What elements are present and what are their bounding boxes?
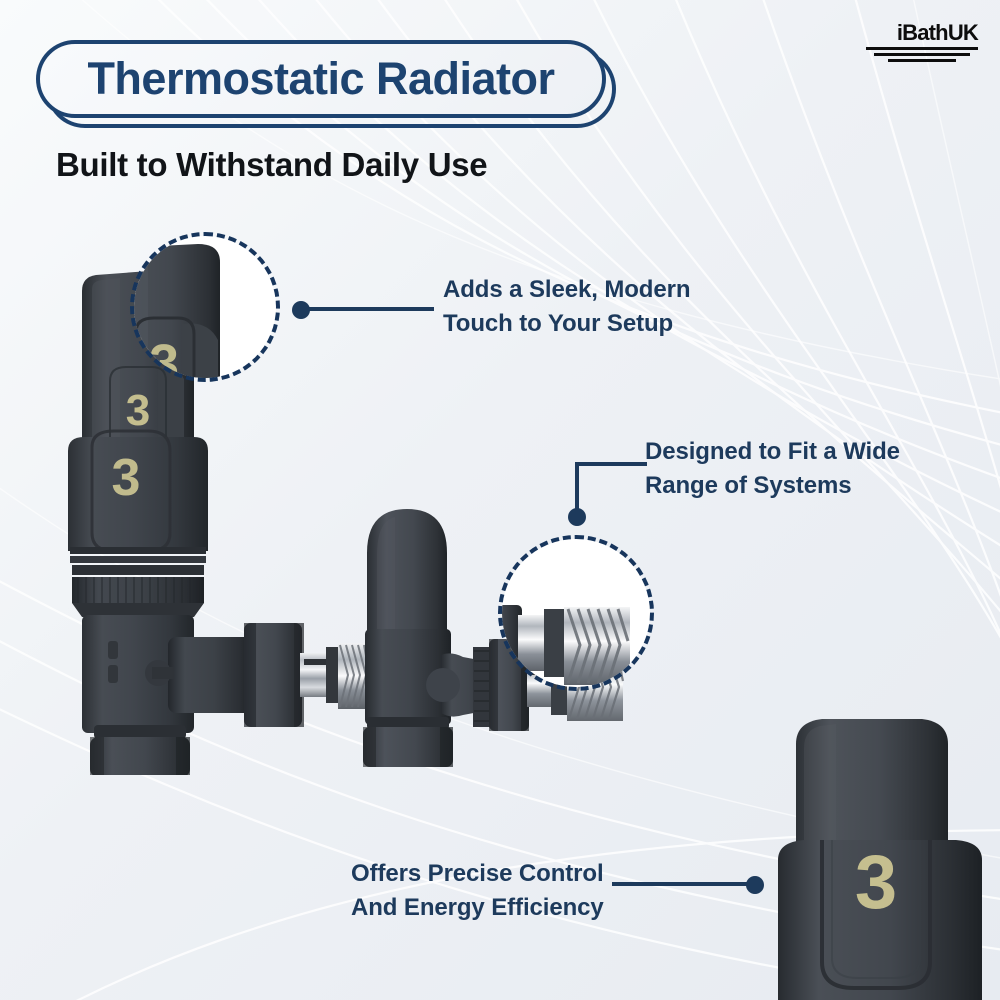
svg-text:3: 3: [126, 386, 150, 435]
title-badge: Thermostatic Radiator: [36, 40, 616, 128]
callout-1-line-1: Adds a Sleek, Modern: [443, 273, 733, 307]
magnifier-ring-2: [498, 535, 654, 691]
callout-2-line-horizontal: [575, 462, 647, 466]
brand-logo-text: iBathUK: [858, 22, 978, 44]
svg-text:3: 3: [855, 840, 897, 925]
callout-1-line: [306, 307, 434, 311]
product-image-thermostatic-head-closeup: 3: [760, 700, 1000, 1000]
callout-2-line-vertical: [575, 462, 579, 512]
callout-2-line-2: Range of Systems: [645, 469, 955, 503]
callout-2-dot: [568, 508, 586, 526]
infographic-canvas: Thermostatic Radiator Built to Withstand…: [0, 0, 1000, 1000]
page-subtitle: Built to Withstand Daily Use: [56, 146, 487, 184]
callout-2-connector: [568, 460, 648, 532]
callout-1-connector: [292, 300, 438, 320]
brand-logo: iBathUK: [858, 22, 978, 62]
page-title: Thermostatic Radiator: [87, 53, 554, 105]
callout-3-line-1: Offers Precise Control: [351, 857, 651, 891]
logo-rule-3: [888, 59, 956, 62]
callout-3-text: Offers Precise Control And Energy Effici…: [351, 857, 651, 925]
callout-1-dot: [292, 301, 310, 319]
callout-2-text: Designed to Fit a Wide Range of Systems: [645, 435, 955, 503]
callout-1-line-2: Touch to Your Setup: [443, 307, 733, 341]
callout-2-line-1: Designed to Fit a Wide: [645, 435, 955, 469]
callout-1-text: Adds a Sleek, Modern Touch to Your Setup: [443, 273, 733, 341]
magnifier-ring-1: [130, 232, 280, 382]
title-badge-frame: Thermostatic Radiator: [36, 40, 606, 118]
svg-text:3: 3: [112, 449, 141, 507]
callout-3-line-2: And Energy Efficiency: [351, 891, 651, 925]
logo-rule-2: [874, 53, 970, 56]
callout-3-dot: [746, 876, 764, 894]
logo-rule-1: [866, 47, 978, 50]
